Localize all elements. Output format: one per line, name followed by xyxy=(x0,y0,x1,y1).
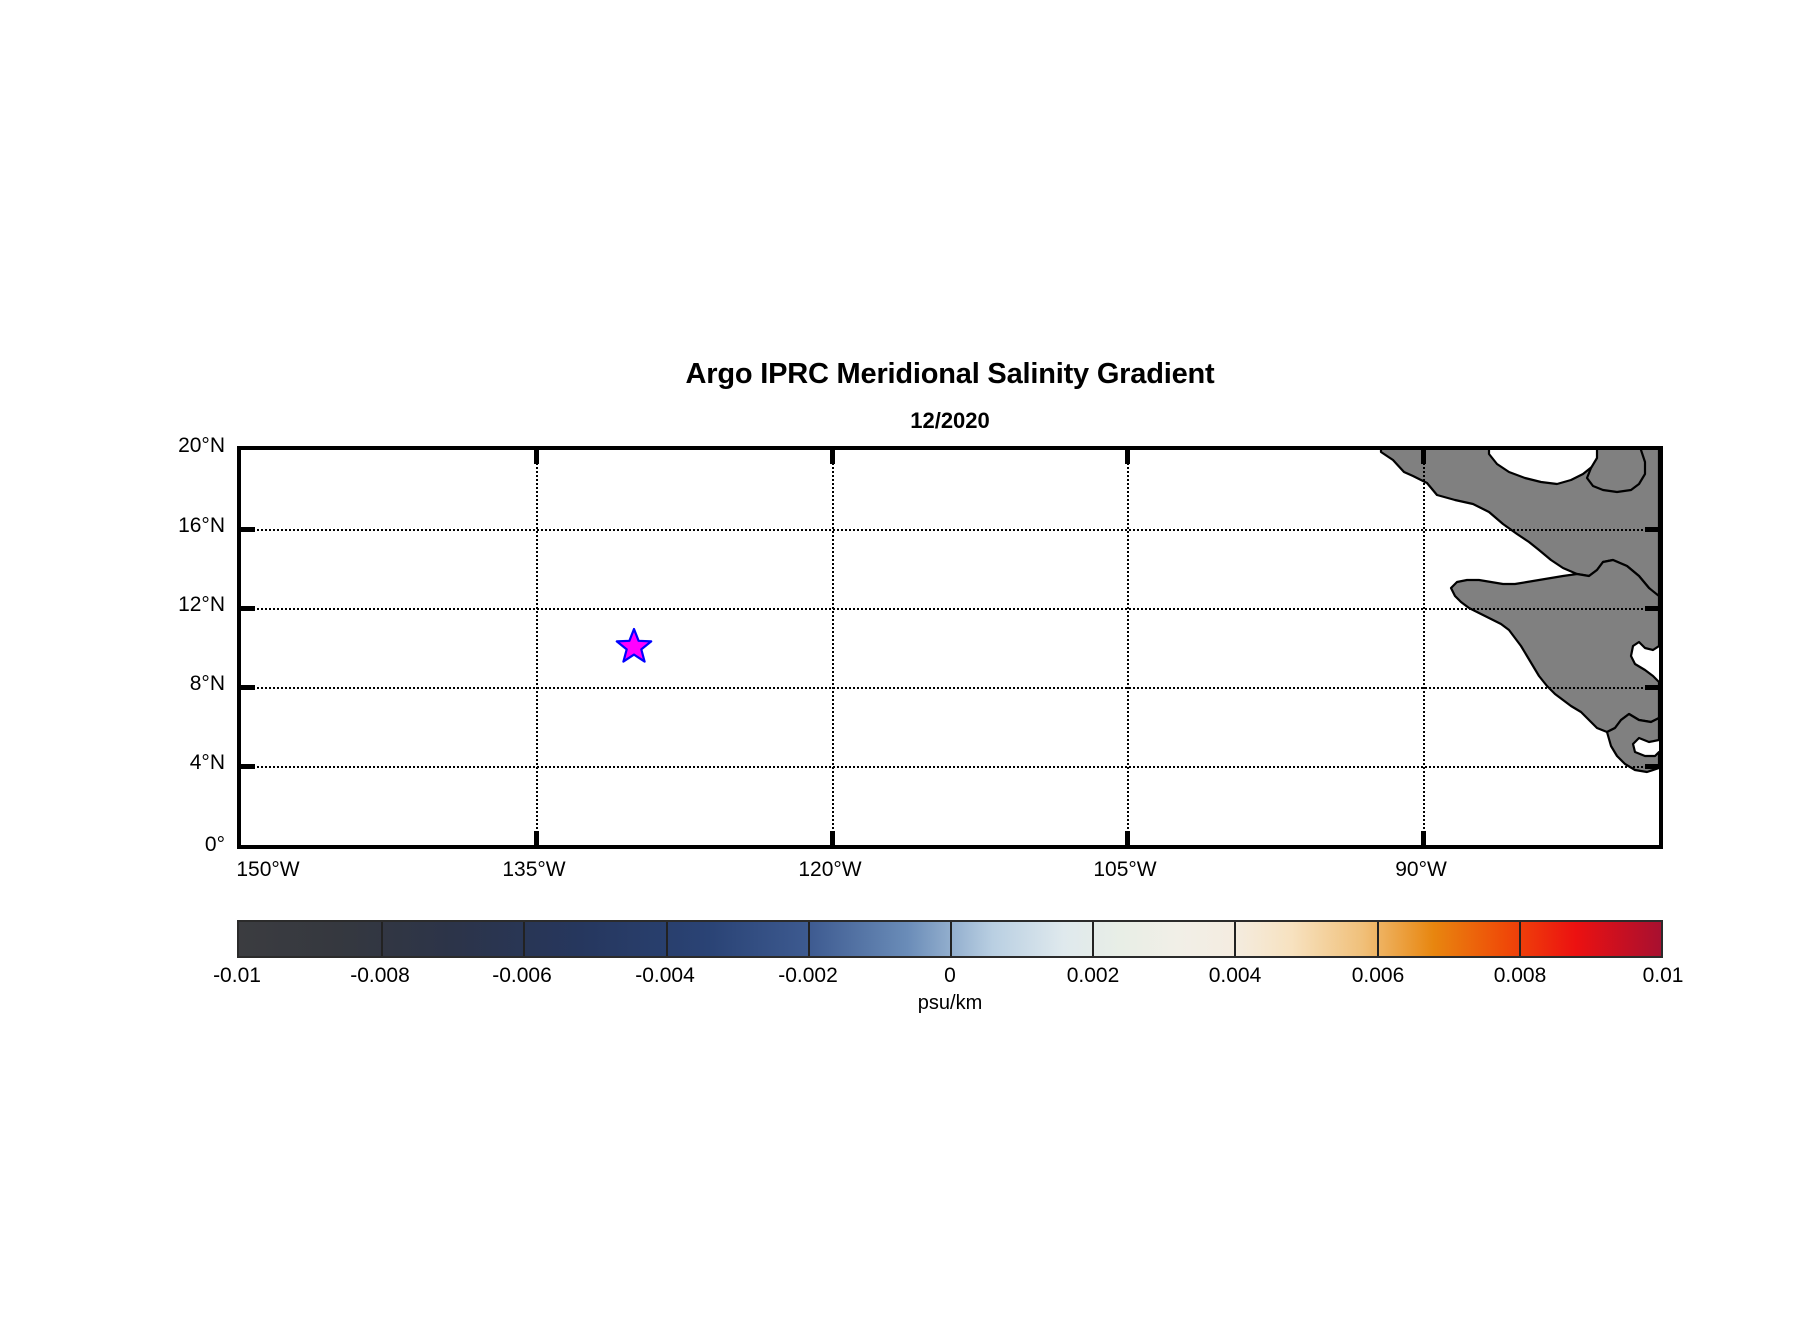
colorbar-label-0004: 0.004 xyxy=(1209,964,1262,988)
float-location-star-icon[interactable] xyxy=(616,628,652,664)
ytick-mark-8n xyxy=(241,685,255,690)
colorbar-tick-0 xyxy=(950,922,952,956)
colorbar-label-0002: 0.002 xyxy=(1067,964,1120,988)
ytick-mark-12n xyxy=(241,606,255,611)
colorbar-label-0: 0 xyxy=(944,964,956,988)
xtick-label-120w: 120°W xyxy=(798,858,861,882)
ytick-label-16n: 16°N xyxy=(140,514,225,538)
xtick-mark-top-105w xyxy=(1125,450,1130,464)
xtick-label-90w: 90°W xyxy=(1395,858,1447,882)
gridline-4n xyxy=(241,766,1659,768)
gridline-12n xyxy=(241,608,1659,610)
colorbar-tick-0002 xyxy=(1092,922,1094,956)
colorbar-tick-n0008 xyxy=(381,922,383,956)
ytick-mark-right-16n xyxy=(1645,527,1659,532)
colorbar-tick-n0006 xyxy=(523,922,525,956)
ytick-mark-right-12n xyxy=(1645,606,1659,611)
xtick-label-135w: 135°W xyxy=(502,858,565,882)
page-title: Argo IPRC Meridional Salinity Gradient xyxy=(237,358,1663,391)
colorbar-tick-n0002 xyxy=(808,922,810,956)
colorbar[interactable] xyxy=(237,920,1663,958)
ytick-label-8n: 8°N xyxy=(140,672,225,696)
coastline-layer xyxy=(241,450,1659,845)
xtick-mark-120w xyxy=(830,831,835,845)
ytick-mark-right-4n xyxy=(1645,764,1659,769)
colorbar-tick-0006 xyxy=(1377,922,1379,956)
gridline-105w xyxy=(1127,450,1129,845)
map-plot-area xyxy=(241,450,1659,845)
colorbar-tick-0004 xyxy=(1234,922,1236,956)
colorbar-label-001: 0.01 xyxy=(1643,964,1684,988)
xtick-mark-105w xyxy=(1125,831,1130,845)
colorbar-unit-label: psu/km xyxy=(918,992,982,1015)
colorbar-label-0006: 0.006 xyxy=(1352,964,1405,988)
colorbar-label-0008: 0.008 xyxy=(1494,964,1547,988)
figure-canvas: Argo IPRC Meridional Salinity Gradient 1… xyxy=(0,0,1808,1333)
map-axes[interactable] xyxy=(237,446,1663,849)
xtick-mark-top-135w xyxy=(534,450,539,464)
colorbar-label-n0002: -0.002 xyxy=(778,964,838,988)
ytick-label-20n: 20°N xyxy=(140,434,225,458)
xtick-label-150w: 150°W xyxy=(236,858,299,882)
xtick-mark-top-90w xyxy=(1421,450,1426,464)
ytick-label-12n: 12°N xyxy=(140,593,225,617)
xtick-mark-90w xyxy=(1421,831,1426,845)
gridline-120w xyxy=(832,450,834,845)
gridline-8n xyxy=(241,687,1659,689)
xtick-label-105w: 105°W xyxy=(1093,858,1156,882)
ytick-mark-4n xyxy=(241,764,255,769)
colorbar-label-n0004: -0.004 xyxy=(635,964,695,988)
xtick-mark-135w xyxy=(534,831,539,845)
land-polygon-central-america xyxy=(1451,560,1659,732)
colorbar-label-n0008: -0.008 xyxy=(350,964,410,988)
ytick-mark-16n xyxy=(241,527,255,532)
ytick-label-4n: 4°N xyxy=(140,751,225,775)
ytick-mark-right-8n xyxy=(1645,685,1659,690)
gridline-90w xyxy=(1423,450,1425,845)
xtick-mark-top-120w xyxy=(830,450,835,464)
gridline-16n xyxy=(241,529,1659,531)
colorbar-label-n0006: -0.006 xyxy=(492,964,552,988)
colorbar-label-n001: -0.01 xyxy=(213,964,261,988)
gridline-135w xyxy=(536,450,538,845)
plot-subtitle: 12/2020 xyxy=(237,408,1663,434)
ytick-label-0: 0° xyxy=(140,833,225,857)
colorbar-tick-n0004 xyxy=(666,922,668,956)
colorbar-tick-0008 xyxy=(1519,922,1521,956)
